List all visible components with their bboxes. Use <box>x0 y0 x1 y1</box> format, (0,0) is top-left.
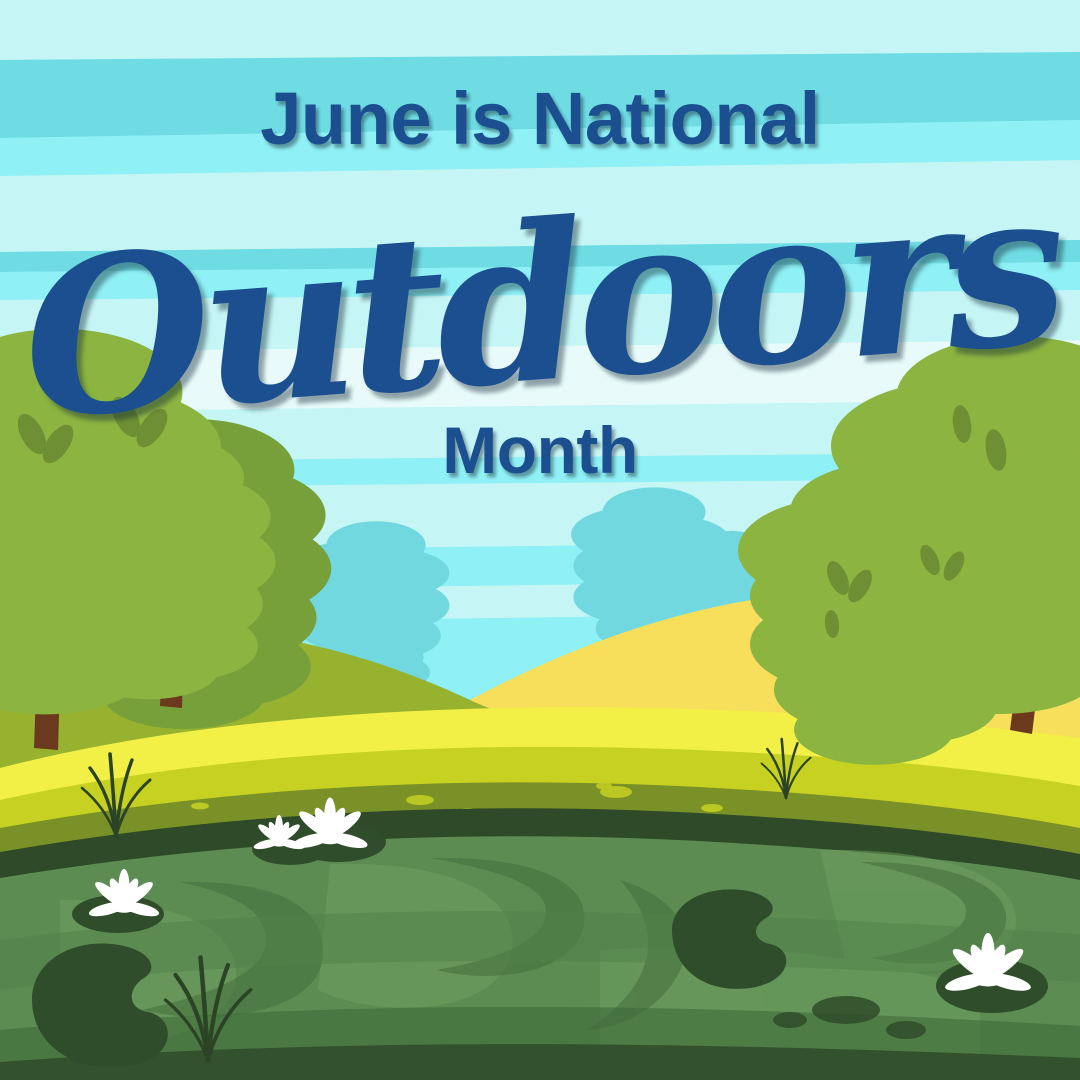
scene-illustration <box>0 0 1080 1080</box>
poster-canvas: June is National Outdoors Month <box>0 0 1080 1080</box>
